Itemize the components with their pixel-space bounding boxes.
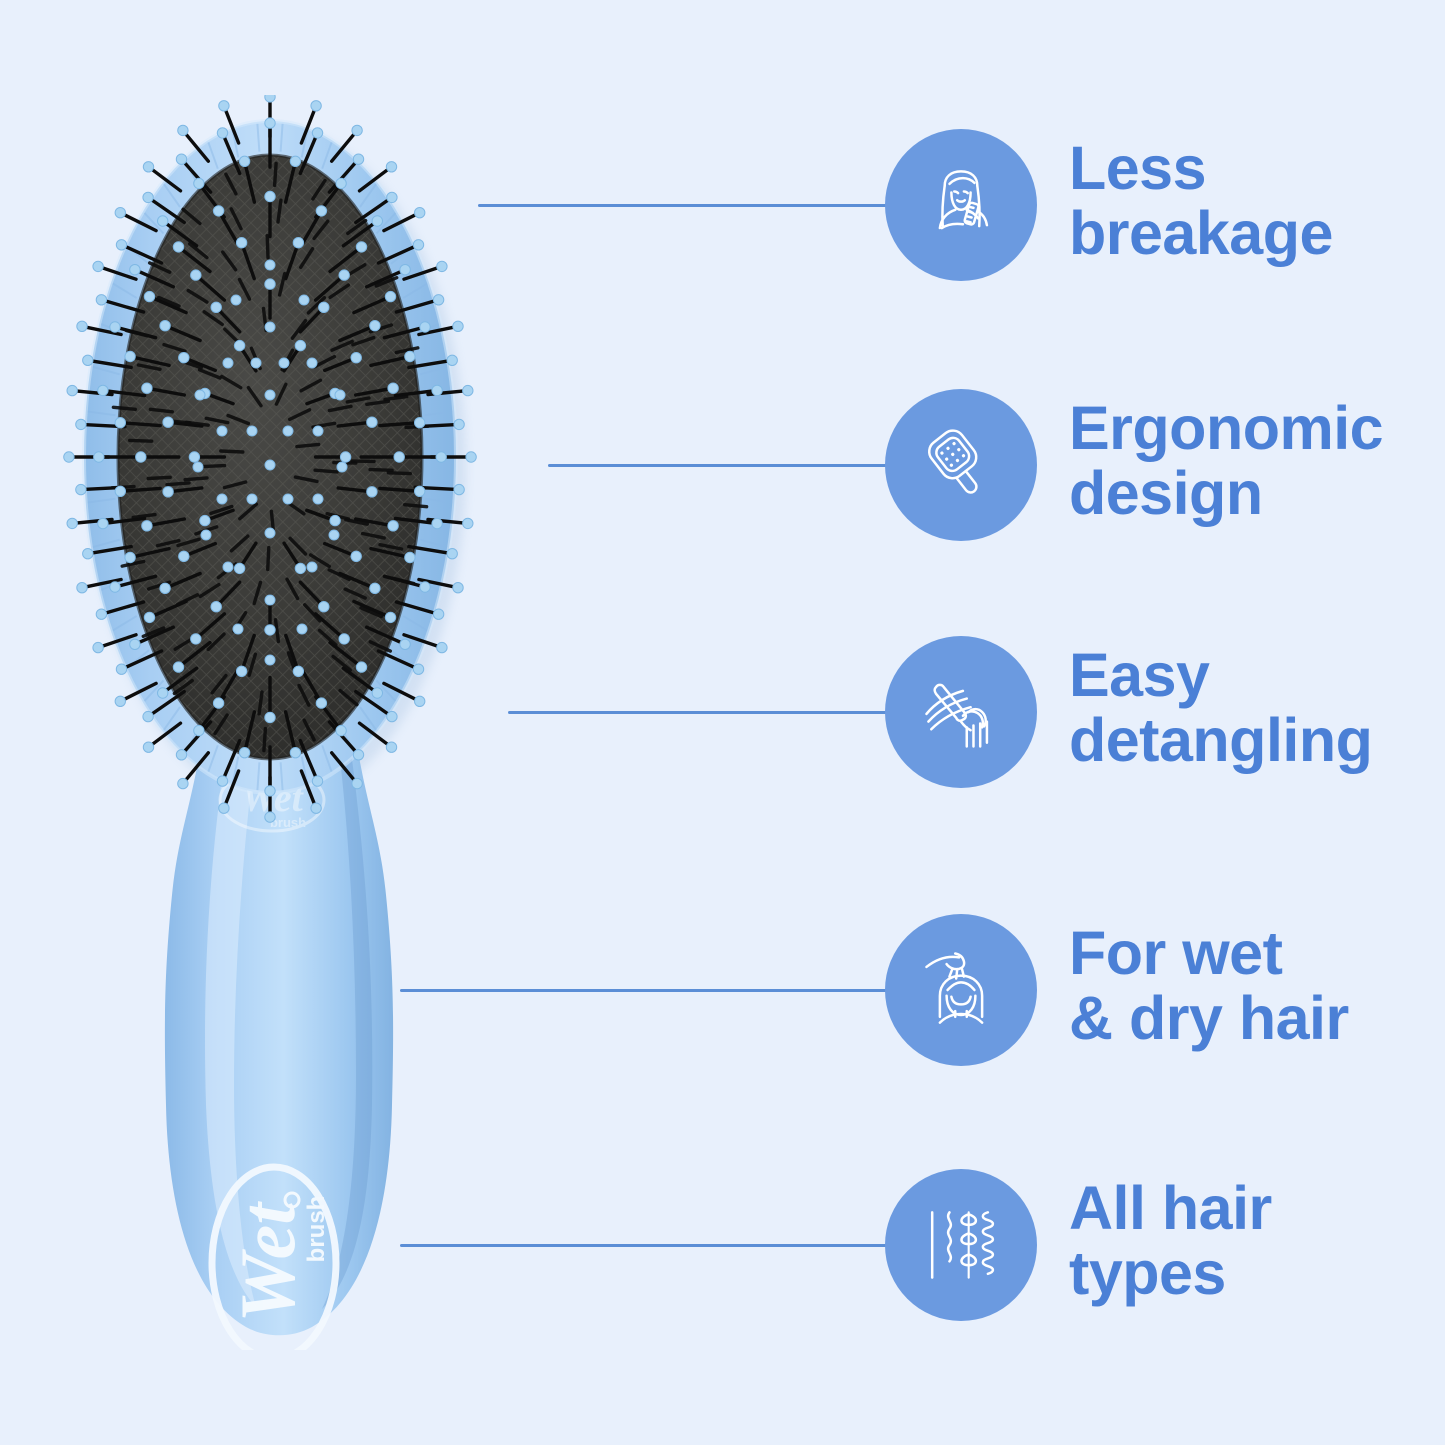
badge-easy-detangling xyxy=(885,636,1037,788)
paddle-brush-icon xyxy=(913,417,1009,513)
shower-head-over-woman-icon xyxy=(913,942,1009,1038)
infographic-canvas: Wet brush Wet brush xyxy=(0,0,1445,1445)
connector-line-for-wet-and-dry-hair xyxy=(400,989,895,992)
badge-ergonomic-design xyxy=(885,389,1037,541)
wavy-hair-strand xyxy=(948,1212,951,1261)
svg-text:Wet: Wet xyxy=(224,1201,311,1323)
feature-label-ergonomic-design: Ergonomic design xyxy=(1069,396,1383,525)
hair-texture-types-icon xyxy=(913,1197,1009,1293)
feature-label-easy-detangling: Easy detangling xyxy=(1069,643,1372,772)
feature-label-for-wet-and-dry-hair: For wet & dry hair xyxy=(1069,921,1349,1050)
connector-line-all-hair-types xyxy=(400,1244,895,1247)
feature-label-all-hair-types: All hair types xyxy=(1069,1176,1272,1305)
connector-line-less-breakage xyxy=(478,204,895,207)
hand-brushing-strands-icon xyxy=(913,664,1009,760)
badge-less-breakage xyxy=(885,129,1037,281)
svg-text:brush: brush xyxy=(303,1196,330,1263)
girl-brushing-hair-icon xyxy=(913,157,1009,253)
product-hair-brush: Wet brush Wet brush xyxy=(60,95,480,1350)
connector-line-ergonomic-design xyxy=(548,464,895,467)
connector-line-easy-detangling xyxy=(508,711,895,714)
badge-for-wet-and-dry-hair xyxy=(885,914,1037,1066)
badge-all-hair-types xyxy=(885,1169,1037,1321)
feature-label-less-breakage: Less breakage xyxy=(1069,136,1333,265)
coily-hair-strand xyxy=(983,1212,993,1273)
